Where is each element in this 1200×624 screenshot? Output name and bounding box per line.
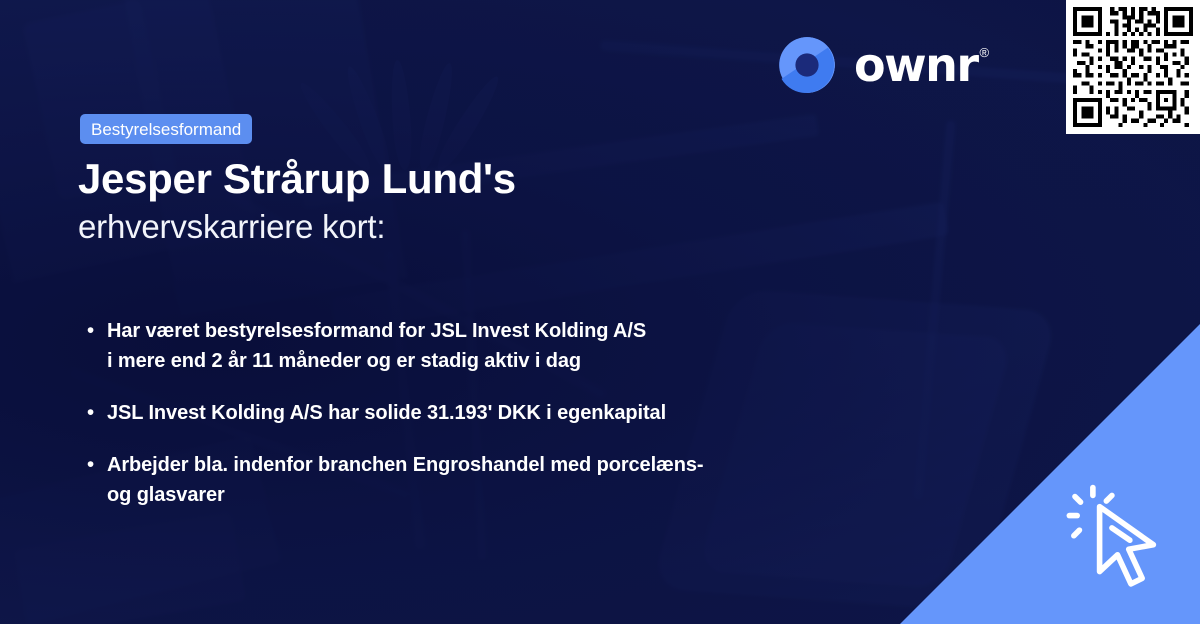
bullet-marker-icon: • (86, 316, 95, 376)
list-item-line-2: og glasvarer (107, 480, 703, 510)
role-badge: Bestyrelsesformand (80, 114, 252, 144)
ownr-logo[interactable]: ownr ® (778, 36, 989, 94)
list-item-text: JSL Invest Kolding A/S har solide 31.193… (107, 398, 666, 428)
bullet-marker-icon: • (86, 398, 95, 428)
list-item: • Arbejder bla. indenfor branchen Engros… (86, 450, 916, 510)
page-subtitle: erhvervskarriere kort: (78, 208, 385, 246)
ownr-swirl-logo-icon (778, 36, 836, 94)
list-item-text: Har været bestyrelsesformand for JSL Inv… (107, 316, 646, 376)
list-item-text: Arbejder bla. indenfor branchen Engrosha… (107, 450, 703, 510)
list-item: • Har været bestyrelsesformand for JSL I… (86, 316, 916, 376)
list-item: • JSL Invest Kolding A/S har solide 31.1… (86, 398, 916, 428)
page-title: Jesper Strårup Lund's (78, 155, 516, 202)
list-item-line-2: i mere end 2 år 11 måneder og er stadig … (107, 346, 646, 376)
list-item-line-1: Arbejder bla. indenfor branchen Engrosha… (107, 454, 703, 476)
list-item-line-1: Har været bestyrelsesformand for JSL Inv… (107, 320, 646, 342)
ownr-wordmark-text: ownr (854, 42, 978, 88)
mouse-cursor-click-icon (1066, 482, 1178, 594)
qr-code-icon (1073, 7, 1193, 127)
qr-code-panel[interactable] (1066, 0, 1200, 134)
list-item-line-1: JSL Invest Kolding A/S har solide 31.193… (107, 402, 666, 424)
bullet-marker-icon: • (86, 450, 95, 510)
career-highlights-list: • Har været bestyrelsesformand for JSL I… (86, 316, 916, 532)
registered-trademark-symbol: ® (980, 46, 990, 59)
ownr-profile-card: ownr ® (0, 0, 1200, 624)
ownr-wordmark: ownr ® (854, 42, 989, 88)
